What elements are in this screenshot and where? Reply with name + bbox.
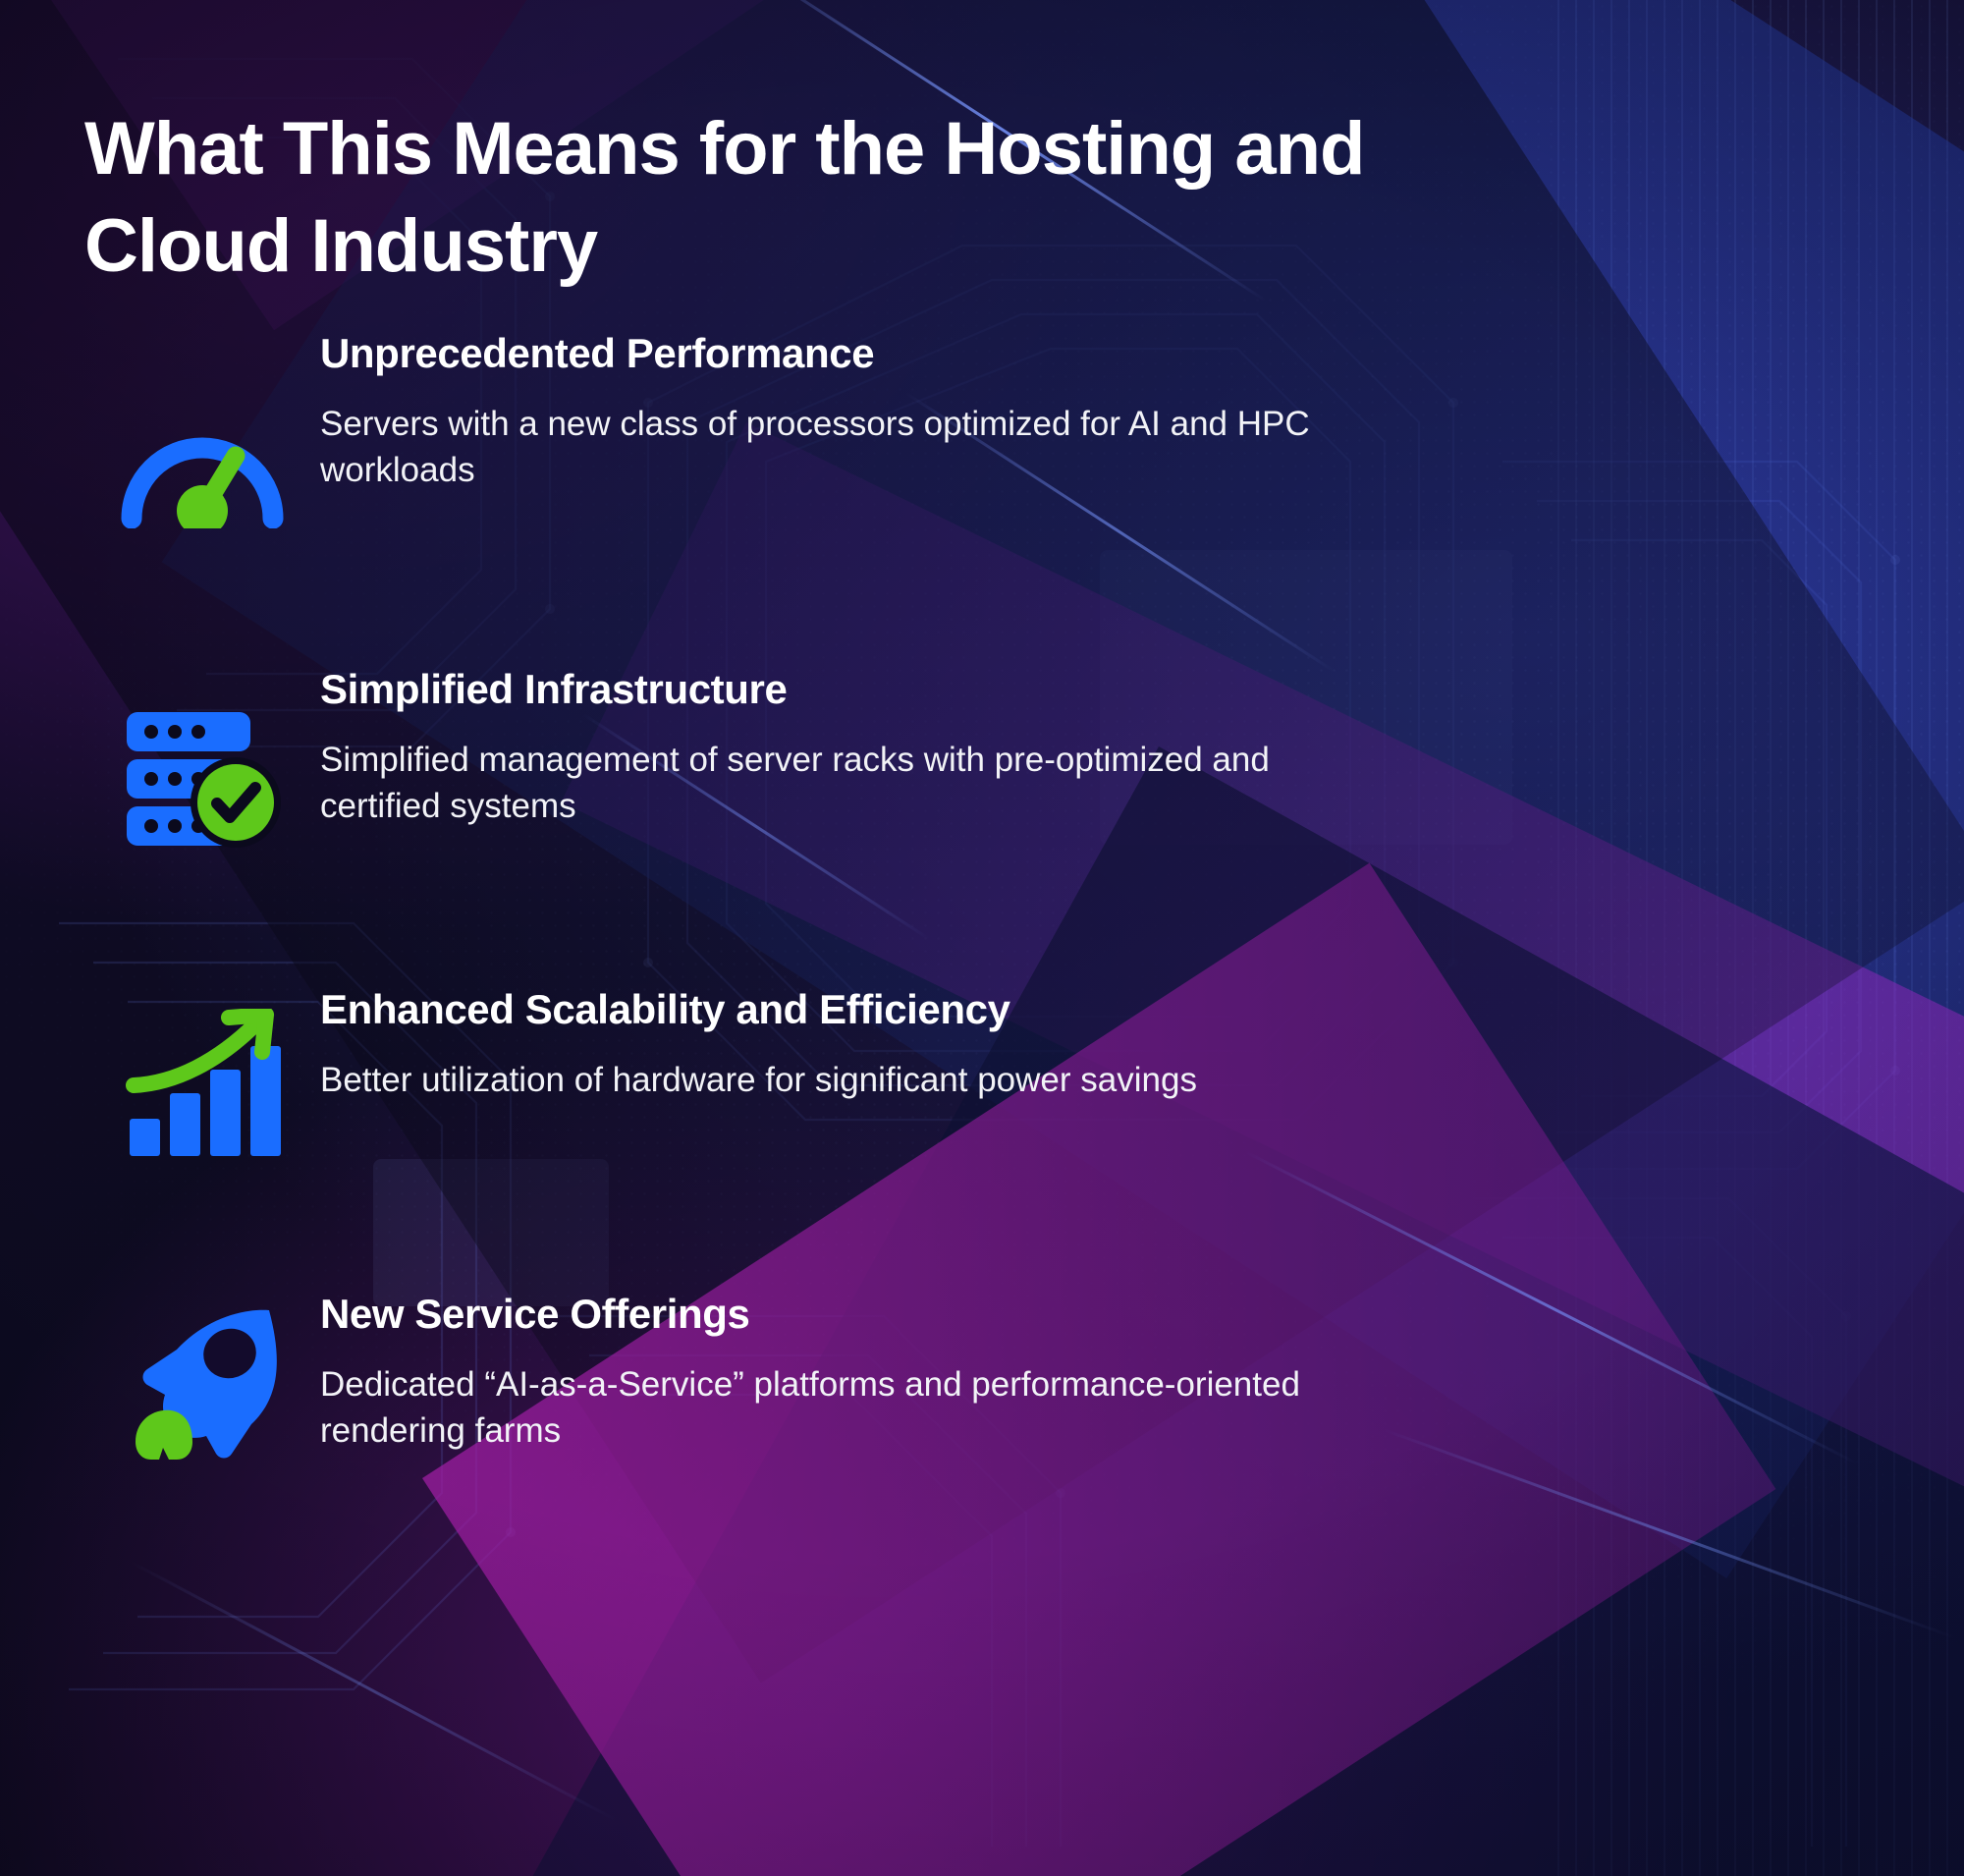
feature-title: Unprecedented Performance [320, 330, 1420, 376]
rocket-launch-icon [84, 1291, 320, 1477]
feature-item: New Service Offerings Dedicated “AI-as-a… [0, 1285, 1964, 1481]
feature-text-block: Simplified Infrastructure Simplified man… [320, 660, 1420, 829]
server-rack-check-icon [84, 686, 320, 872]
page-title: What This Means for the Hosting and Clou… [84, 101, 1459, 296]
feature-title: Simplified Infrastructure [320, 666, 1420, 712]
feature-title: Enhanced Scalability and Efficiency [320, 986, 1420, 1032]
feature-text-block: New Service Offerings Dedicated “AI-as-a… [320, 1285, 1420, 1454]
feature-description: Simplified management of server racks wi… [320, 738, 1381, 829]
feature-list: Unprecedented Performance Servers with a… [0, 324, 1964, 1481]
feature-description: Better utilization of hardware for signi… [320, 1058, 1381, 1104]
feature-text-block: Unprecedented Performance Servers with a… [320, 324, 1420, 493]
feature-title: New Service Offerings [320, 1291, 1420, 1337]
feature-item: Unprecedented Performance Servers with a… [0, 324, 1964, 562]
feature-description: Servers with a new class of processors o… [320, 402, 1381, 493]
feature-description: Dedicated “AI-as-a-Service” platforms an… [320, 1362, 1381, 1454]
growth-bar-chart-arrow-icon [84, 990, 320, 1177]
feature-item: Simplified Infrastructure Simplified man… [0, 660, 1964, 872]
feature-item: Enhanced Scalability and Efficiency Bett… [0, 980, 1964, 1177]
feature-text-block: Enhanced Scalability and Efficiency Bett… [320, 980, 1420, 1104]
speedometer-gauge-icon [84, 375, 320, 562]
